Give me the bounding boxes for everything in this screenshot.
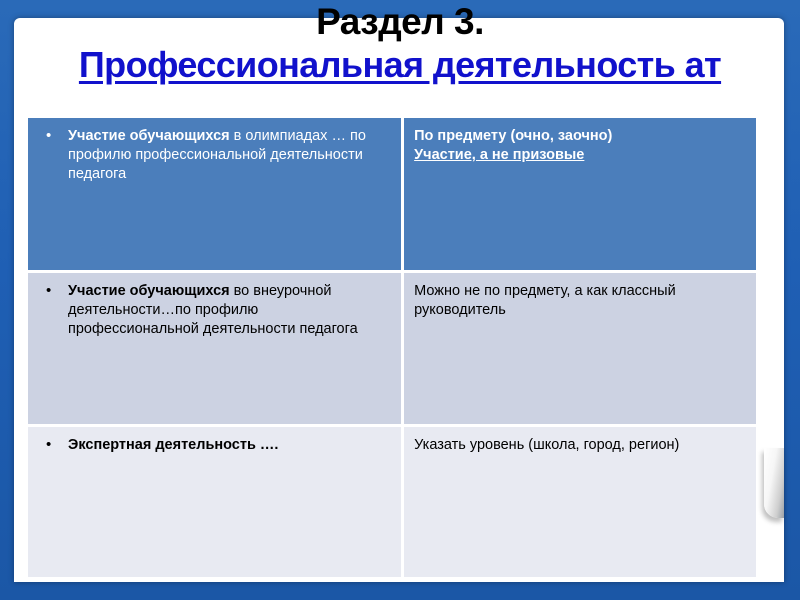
bullet-list: Экспертная деятельность …. (38, 436, 389, 455)
criterion-bold-text: Участие обучающихся (68, 128, 230, 144)
table-cell-criterion: Участие обучающихся во внеурочной деятел… (28, 270, 404, 424)
table-cell-note: Можно не по предмету, а как классный рук… (404, 270, 756, 424)
table-row: Участие обучающихся во внеурочной деятел… (28, 270, 756, 424)
list-item: Участие обучающихся во внеурочной деятел… (68, 282, 389, 339)
bullet-list: Участие обучающихся во внеурочной деятел… (38, 282, 389, 339)
title-line-1: Раздел 3. (0, 0, 800, 44)
table-row: Участие обучающихся в олимпиадах … по пр… (28, 118, 756, 270)
slide-canvas: Раздел 3. Профессиональная деятельность … (0, 0, 800, 600)
list-item: Участие обучающихся в олимпиадах … по пр… (68, 127, 389, 184)
table-cell-criterion: Экспертная деятельность …. (28, 424, 404, 577)
page-curl-decoration (764, 448, 784, 518)
note-line-2: Участие, а не призовые (414, 146, 744, 165)
criterion-bold-text: Экспертная деятельность …. (68, 437, 278, 453)
list-item: Экспертная деятельность …. (68, 436, 389, 455)
note-line-1: По предмету (очно, заочно) (414, 127, 744, 146)
title-line-2: Профессиональная деятельность ат (0, 42, 800, 88)
criterion-bold-text: Участие обучающихся (68, 283, 230, 299)
table-cell-note: По предмету (очно, заочно) Участие, а не… (404, 118, 756, 270)
table-row: Экспертная деятельность …. Указать урове… (28, 424, 756, 577)
note-line-1: Указать уровень (школа, город, регион) (414, 436, 744, 455)
slide-title: Раздел 3. Профессиональная деятельность … (0, 0, 800, 88)
note-line-1: Можно не по предмету, а как классный рук… (414, 282, 744, 320)
bullet-list: Участие обучающихся в олимпиадах … по пр… (38, 127, 389, 184)
content-table: Участие обучающихся в олимпиадах … по пр… (28, 118, 756, 577)
table-cell-note: Указать уровень (школа, город, регион) (404, 424, 756, 577)
table-cell-criterion: Участие обучающихся в олимпиадах … по пр… (28, 118, 404, 270)
